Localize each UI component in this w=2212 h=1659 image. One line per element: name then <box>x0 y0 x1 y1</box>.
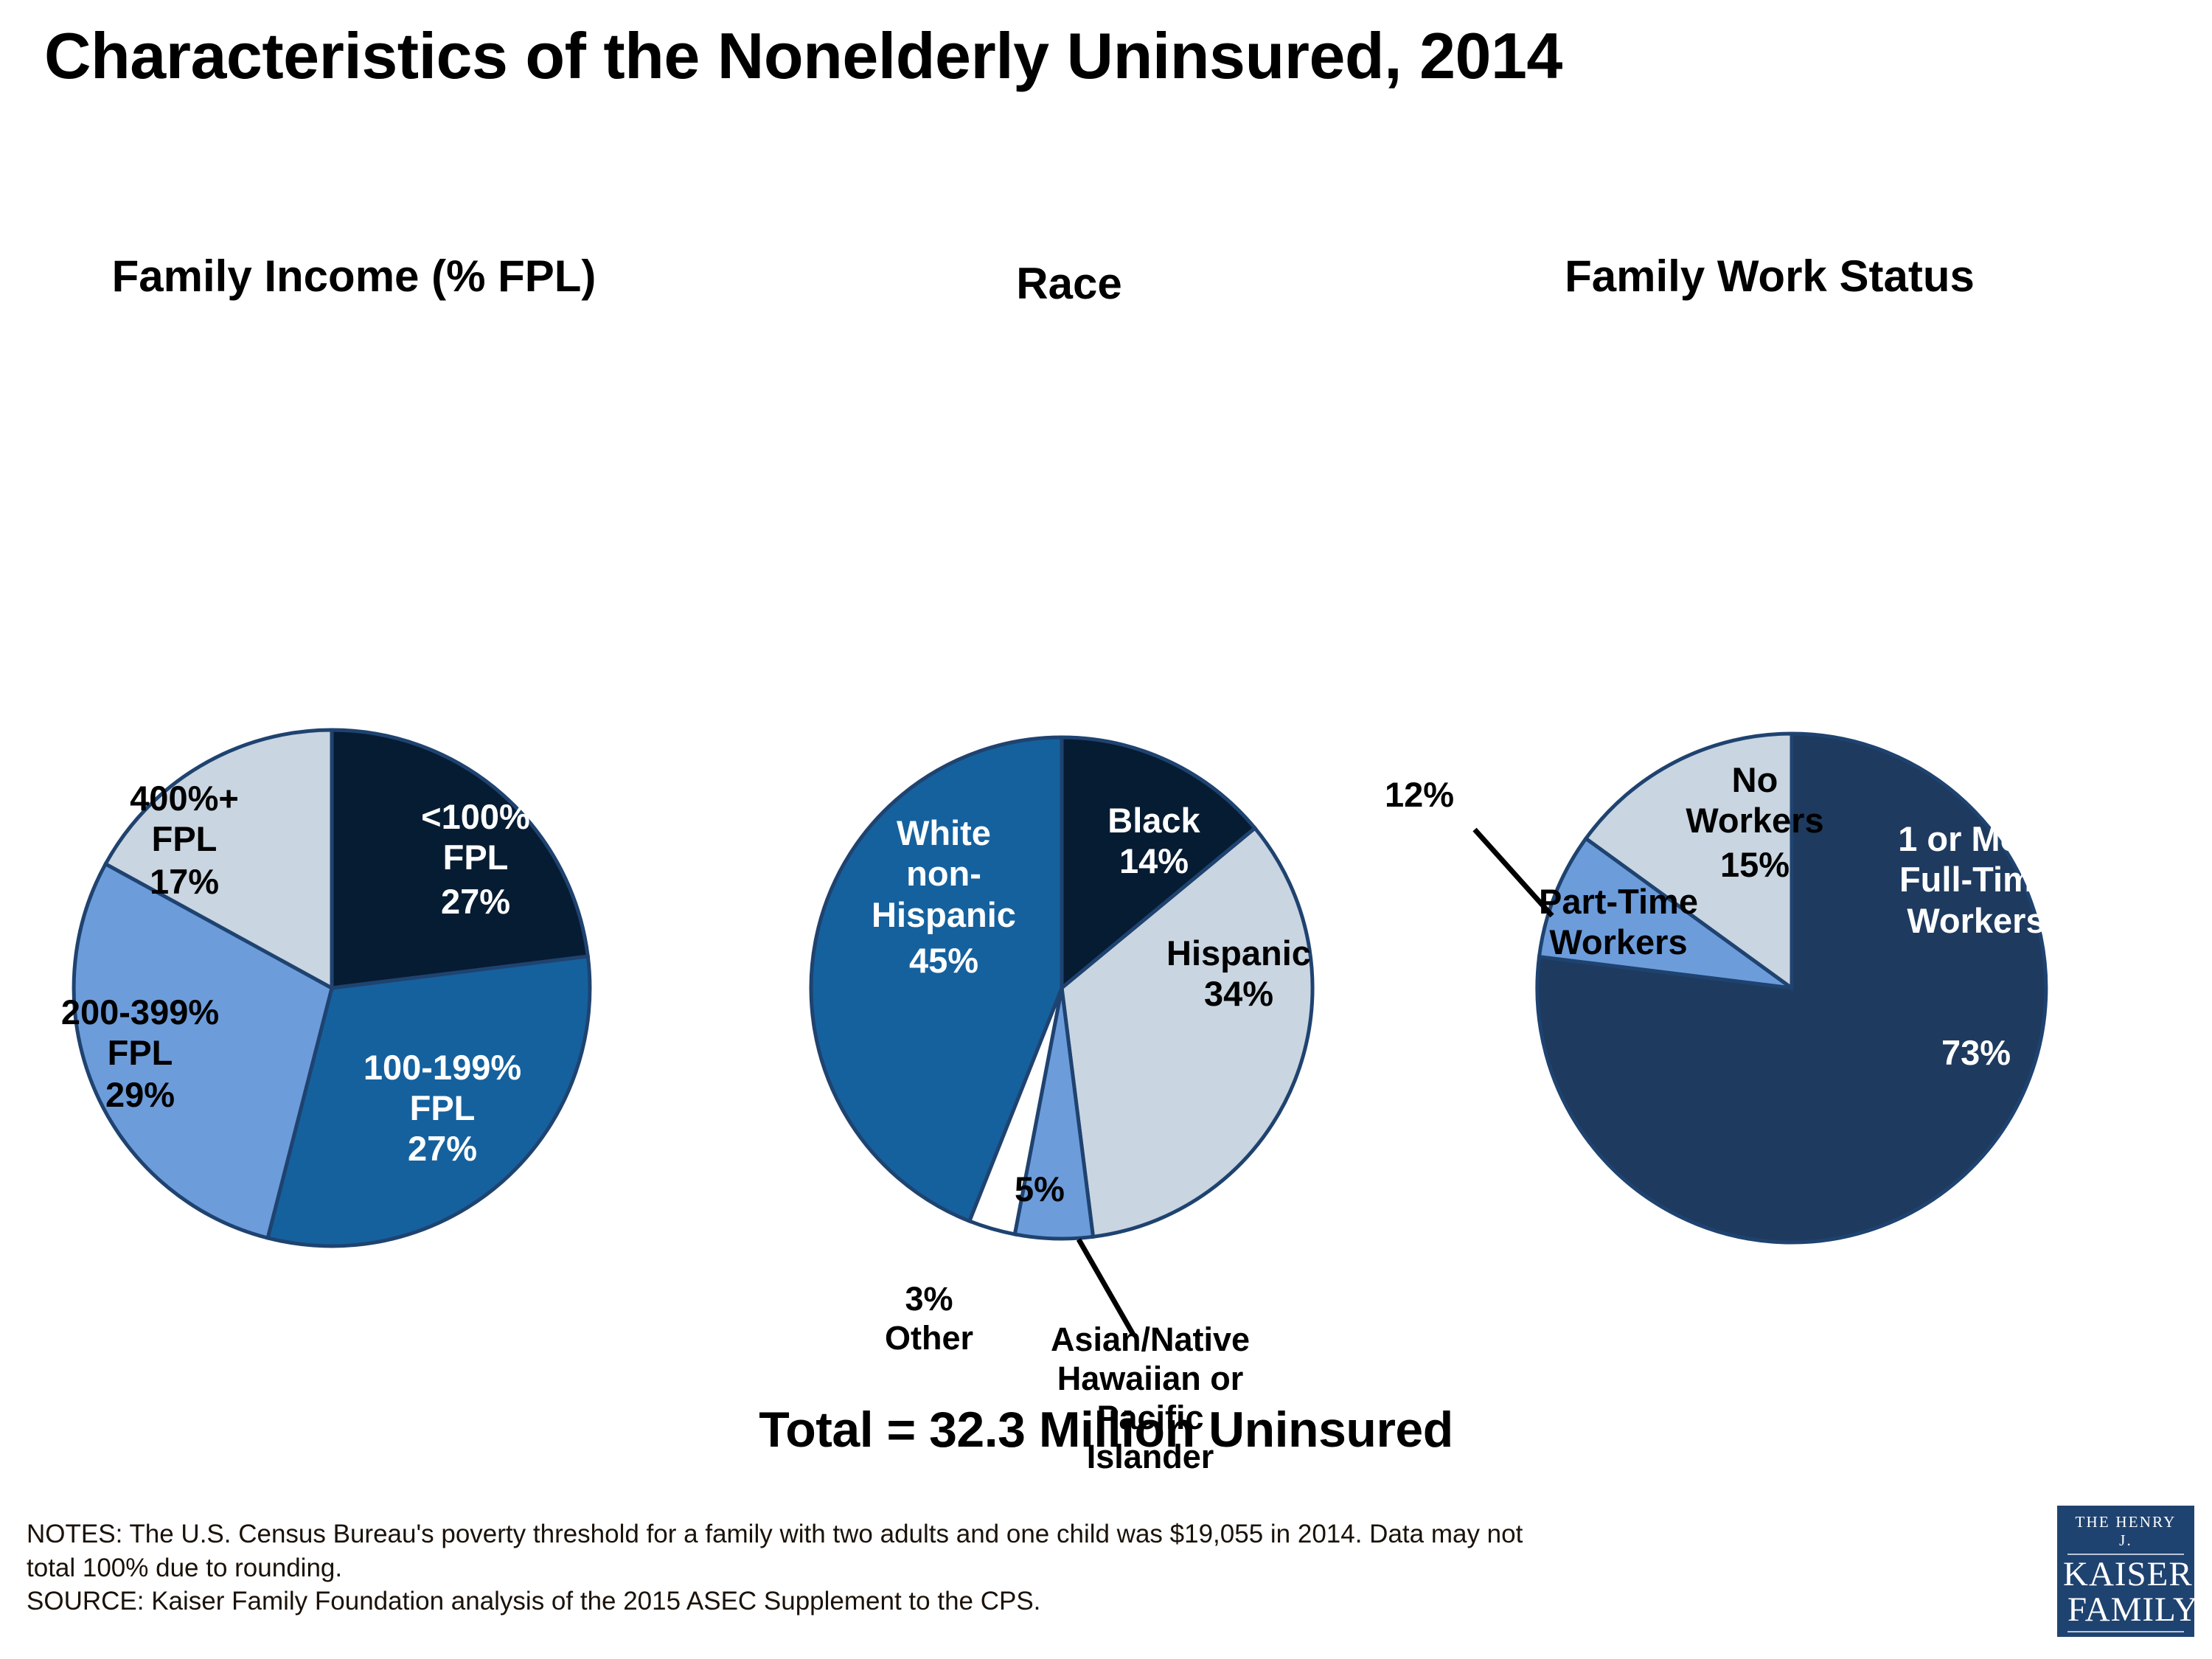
logo-line-henry-j: THE HENRY J. <box>2067 1513 2184 1555</box>
logo-line-family: FAMILY <box>2067 1593 2184 1632</box>
pie-label-part-time-workers-value: 12% <box>1357 774 1482 815</box>
pie-label-200-399-fpl-value: 29% <box>15 1074 265 1115</box>
total-uninsured-text: Total = 32.3 Million Uninsured <box>0 1401 2212 1458</box>
pie-label-black-value: 14% <box>1058 841 1250 881</box>
pie-chart-race: Black 14% Hispanic 34% White non- Hispan… <box>737 251 1401 1371</box>
source-line: SOURCE: Kaiser Family Foundation analysi… <box>27 1585 2032 1618</box>
pie-chart-family-income: <100% FPL 27% 100-199% FPL 27% 200-399% … <box>22 251 686 1371</box>
pie-label-no-workers-name: No Workers <box>1652 759 1858 841</box>
pie-label-asian-nhpi-value: 5% <box>992 1169 1088 1209</box>
pie-label-white-non-hispanic-value: 45% <box>837 940 1051 981</box>
pie-label-one-or-more-full-time-workers-name: 1 or More Full-Time Workers <box>1851 818 2101 941</box>
pie-chart-family-work-status: 1 or More Full-Time Workers 73% No Worke… <box>1438 251 2101 1371</box>
chart-panel-family-work-status: Family Work Status 1 or More Full-Time W… <box>1438 251 2101 1371</box>
pie-label-no-workers-value: 15% <box>1652 844 1858 885</box>
pie-label-other-value: 3% <box>855 1279 1003 1318</box>
pie-label-100-199-fpl-value: 27% <box>332 1128 553 1169</box>
footer-notes: NOTES: The U.S. Census Bureau's poverty … <box>27 1517 2032 1618</box>
pie-label-white-non-hispanic-name: White non- Hispanic <box>837 813 1051 935</box>
pie-label-black-name: Black <box>1058 800 1250 841</box>
pie-label-400plus-fpl-name: 400%+ FPL <box>88 778 280 860</box>
pie-label-100-199-fpl-name: 100-199% FPL <box>332 1047 553 1129</box>
pie-label-lt100-fpl-value: 27% <box>383 881 568 922</box>
notes-line-1: NOTES: The U.S. Census Bureau's poverty … <box>27 1517 2032 1551</box>
pie-label-part-time-workers-name: Part-Time Workers <box>1493 881 1744 963</box>
pie-label-one-or-more-full-time-workers-value: 73% <box>1851 1032 2101 1073</box>
chart-panel-race: Race Black 14% Hispanic 34% <box>737 251 1401 1371</box>
pie-label-hispanic-value: 34% <box>1128 973 1349 1014</box>
pie-label-200-399-fpl-name: 200-399% FPL <box>15 992 265 1074</box>
chart-panel-family-income: Family Income (% FPL) <100% FPL 27% 100-… <box>22 251 686 1371</box>
pie-label-lt100-fpl-name: <100% FPL <box>383 796 568 878</box>
pie-label-400plus-fpl-value: 17% <box>88 861 280 902</box>
pie-label-other-name: Other <box>855 1318 1003 1357</box>
logo-line-foundation: FOUNDATION <box>2063 1637 2188 1655</box>
logo-line-kaiser: KAISER <box>2063 1557 2188 1593</box>
pie-label-hispanic-name: Hispanic <box>1128 933 1349 973</box>
notes-line-2: total 100% due to rounding. <box>27 1551 2032 1585</box>
page-title: Characteristics of the Nonelderly Uninsu… <box>44 22 2035 90</box>
kaiser-family-foundation-logo: THE HENRY J. KAISER FAMILY FOUNDATION <box>2057 1506 2194 1637</box>
